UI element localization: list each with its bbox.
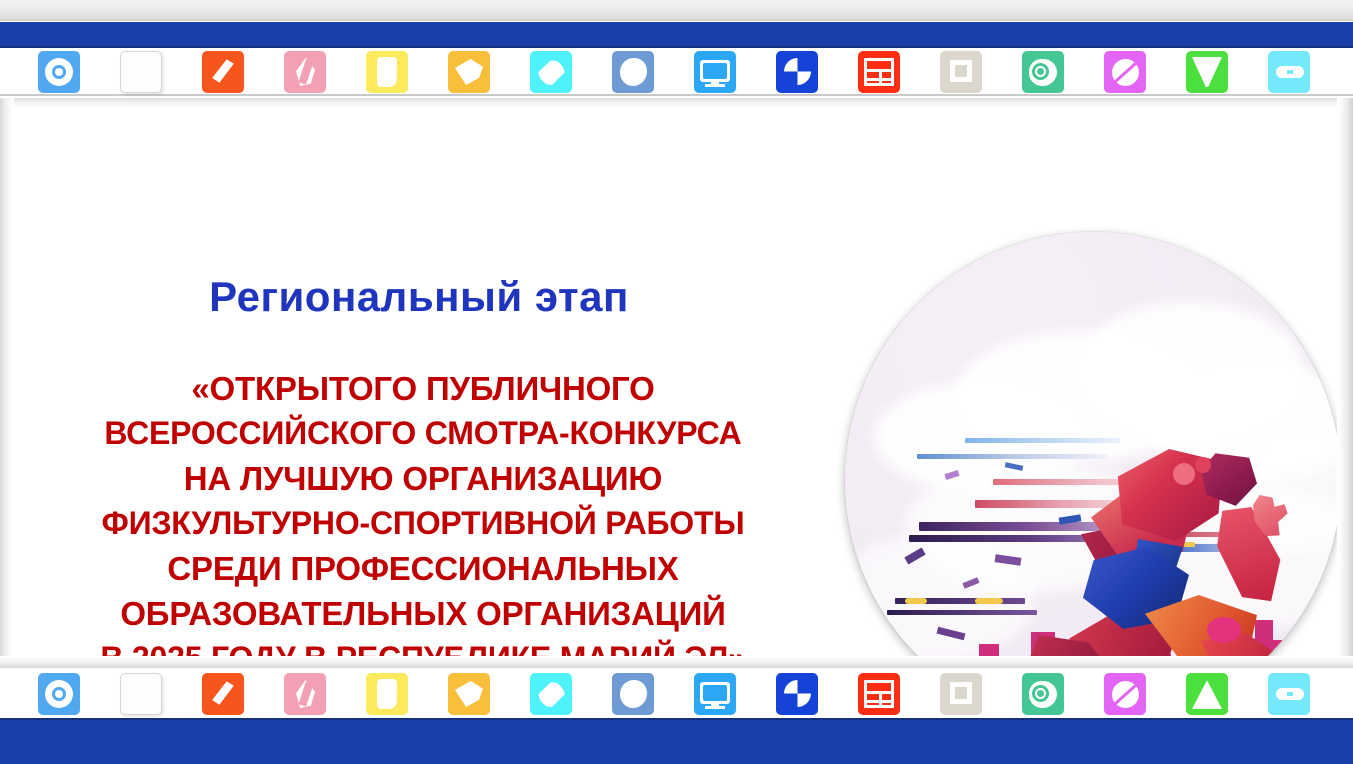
- slide-edge-right: [1337, 98, 1353, 668]
- target-icon[interactable]: [38, 51, 80, 93]
- water-drop-icon[interactable]: [284, 51, 326, 93]
- chip-icon[interactable]: [940, 51, 982, 93]
- table-icon[interactable]: [858, 51, 900, 93]
- body-line-6: ОБРАЗОВАТЕЛЬНЫХ ОРГАНИЗАЦИЙ: [8, 591, 838, 636]
- triangle-up-icon[interactable]: [1186, 673, 1228, 715]
- blank-page-icon[interactable]: [120, 51, 162, 93]
- funnel-icon[interactable]: [1186, 51, 1228, 93]
- pie-chart-icon[interactable]: [776, 51, 818, 93]
- athlete-accent-dot: [1173, 463, 1195, 485]
- athlete-figure: [995, 427, 1275, 668]
- circle-slash-icon[interactable]: [1104, 51, 1146, 93]
- bottom-icon-toolbar[interactable]: [0, 668, 1353, 718]
- document-page-icon[interactable]: [366, 51, 408, 93]
- link-icon[interactable]: [1268, 673, 1310, 715]
- top-blue-banner: [0, 22, 1353, 48]
- body-line-1: «ОТКРЫТОГО ПУБЛИЧНОГО: [8, 366, 838, 411]
- slide-canvas: Региональный этап «ОТКРЫТОГО ПУБЛИЧНОГО …: [0, 98, 1353, 668]
- athlete-accent-dot: [1195, 457, 1211, 473]
- diagonal-slash-icon[interactable]: [202, 51, 244, 93]
- slide-edge-top: [0, 98, 1353, 108]
- diagonal-slash-icon[interactable]: [202, 673, 244, 715]
- monitor-icon[interactable]: [694, 51, 736, 93]
- document-page-icon[interactable]: [366, 673, 408, 715]
- cloud-blob-icon[interactable]: [612, 673, 654, 715]
- motion-streak: [905, 598, 927, 604]
- slide-edge-left: [0, 98, 14, 668]
- body-line-5: СРЕДИ ПРОФЕССИОНАЛЬНЫХ: [8, 546, 838, 591]
- leaf-down-icon[interactable]: [448, 673, 490, 715]
- water-drop-icon[interactable]: [284, 673, 326, 715]
- top-icon-toolbar[interactable]: [0, 48, 1353, 96]
- athlete-accent-dot: [1207, 617, 1241, 643]
- running-athlete-circular-illustration: [845, 232, 1341, 668]
- slide-edge-bottom: [0, 656, 1353, 668]
- bottom-blue-banner: [0, 718, 1353, 764]
- body-line-2: ВСЕРОССИЙСКОГО СМОТРА-КОНКУРСА: [8, 411, 838, 456]
- body-line-3: НА ЛУЧШУЮ ОРГАНИЗАЦИЮ: [8, 456, 838, 501]
- monitor-icon[interactable]: [694, 673, 736, 715]
- window-title-strip: [0, 0, 1353, 21]
- slide-title: Региональный этап: [0, 273, 838, 321]
- circle-slash-icon[interactable]: [1104, 673, 1146, 715]
- slide-body-text: «ОТКРЫТОГО ПУБЛИЧНОГО ВСЕРОССИЙСКОГО СМО…: [8, 366, 838, 668]
- leaf-down-icon[interactable]: [448, 51, 490, 93]
- link-icon[interactable]: [1268, 51, 1310, 93]
- cloud-blob-icon[interactable]: [612, 51, 654, 93]
- blank-page-icon[interactable]: [120, 673, 162, 715]
- leaf-icon[interactable]: [530, 673, 572, 715]
- target-icon[interactable]: [38, 673, 80, 715]
- table-icon[interactable]: [858, 673, 900, 715]
- body-line-4: ФИЗКУЛЬТУРНО-СПОРТИВНОЙ РАБОТЫ: [8, 501, 838, 546]
- pie-chart-icon[interactable]: [776, 673, 818, 715]
- spiral-target-icon[interactable]: [1022, 673, 1064, 715]
- chip-icon[interactable]: [940, 673, 982, 715]
- leaf-icon[interactable]: [530, 51, 572, 93]
- spiral-target-icon[interactable]: [1022, 51, 1064, 93]
